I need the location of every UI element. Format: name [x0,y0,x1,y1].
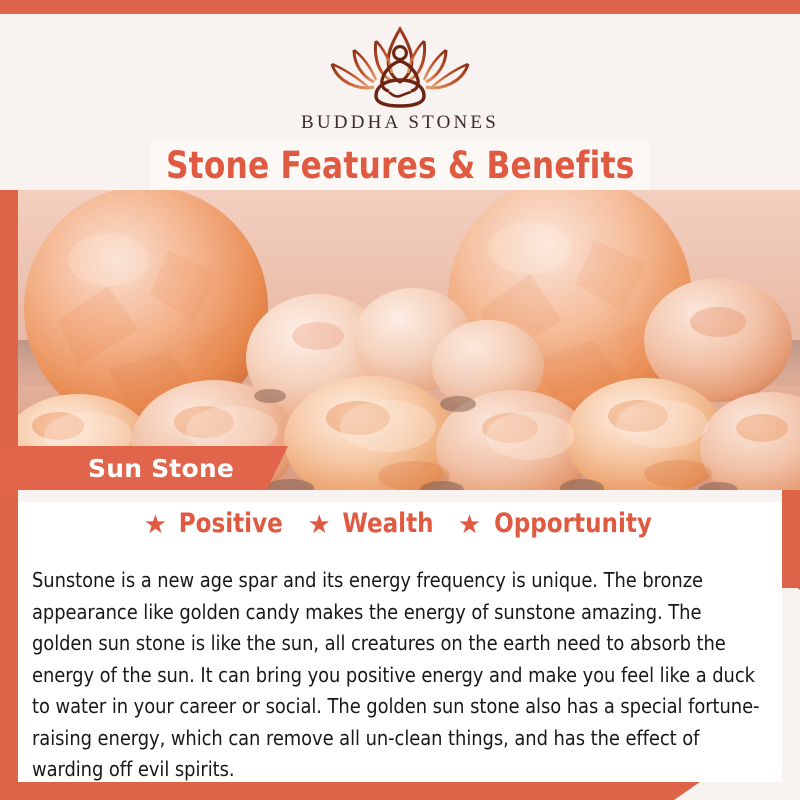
stone-photo-graphic [18,190,800,490]
stone-photo [18,190,800,490]
content-card: ★ Positive ★ Wealth ★ Opportunity Sunsto… [18,490,782,782]
description-paragraph: Sunstone is a new age spar and its energ… [32,565,763,786]
benefit-label: Positive [179,508,283,539]
photo-caption-ribbon: Sun Stone [0,446,288,491]
star-icon: ★ [308,511,331,537]
star-icon: ★ [144,511,167,537]
benefit-item-wealth: ★ Wealth [308,508,436,539]
benefit-label: Opportunity [494,508,652,539]
benefit-item-positive: ★ Positive [144,508,286,539]
benefit-label: Wealth [342,508,433,539]
brand-logo: BUDDHA STONES [0,24,800,134]
brand-name: BUDDHA STONES [301,112,499,134]
infographic-poster: BUDDHA STONES Stone Features & Benefits [0,0,800,800]
photo-caption-label: Sun Stone [88,454,234,483]
frame-band-top [0,0,800,14]
benefit-item-opportunity: ★ Opportunity [458,508,656,539]
accent-triangle [782,562,800,588]
page-title: Stone Features & Benefits [166,144,635,187]
star-icon: ★ [458,511,481,537]
title-plate: Stone Features & Benefits [150,141,650,190]
lotus-meditation-figure-icon [310,24,490,110]
frame-band-left [0,188,18,800]
benefits-row: ★ Positive ★ Wealth ★ Opportunity [18,508,782,539]
card-top-tint [18,490,782,502]
